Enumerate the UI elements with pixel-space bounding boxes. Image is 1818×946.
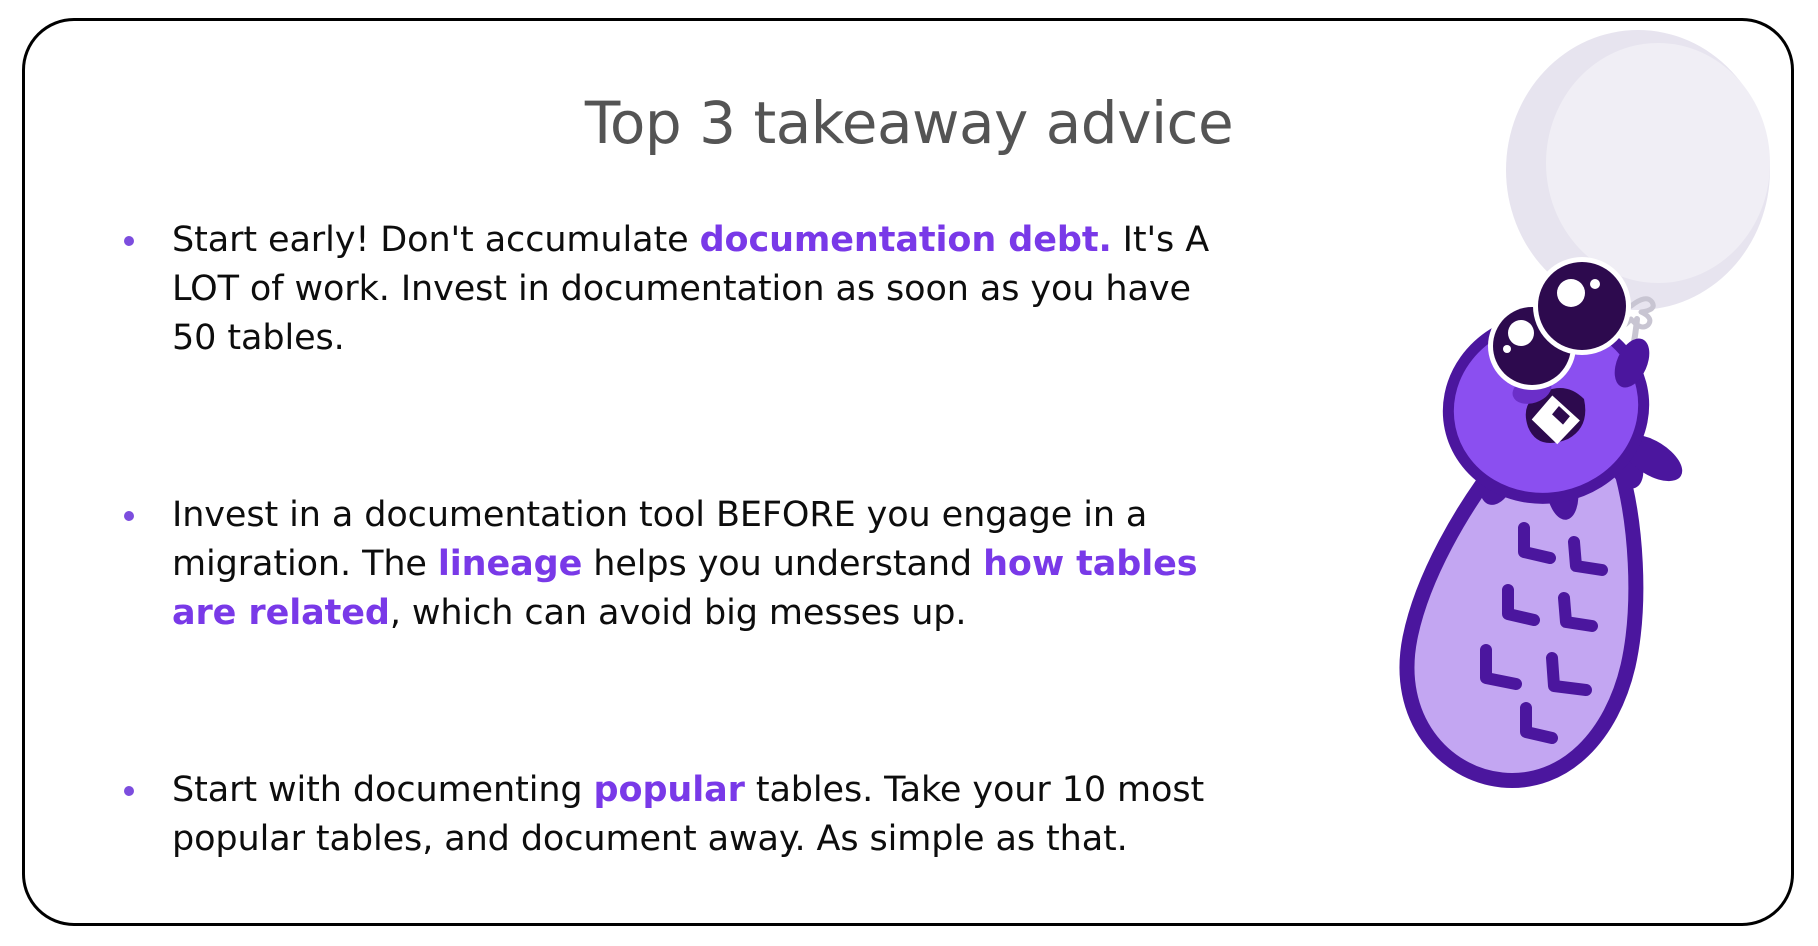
bullet-dot-icon	[124, 786, 134, 796]
page-title: Top 3 takeaway advice	[0, 89, 1818, 157]
takeaway-list: Start early! Don't accumulate documentat…	[110, 216, 1220, 864]
bullet-dot-icon	[124, 236, 134, 246]
bullet-text-2-highlight-1: lineage	[438, 544, 582, 584]
bullet-text-3-highlight: popular	[594, 770, 745, 810]
bullet-text-2-part-3: , which can avoid big messes up.	[390, 593, 967, 633]
list-item: Invest in a documentation tool BEFORE yo…	[110, 491, 1220, 638]
list-item: Start early! Don't accumulate documentat…	[110, 216, 1220, 363]
bullet-text-1-highlight: documentation debt.	[700, 220, 1112, 260]
list-item: Start with documenting popular tables. T…	[110, 766, 1220, 864]
slide-canvas: Top 3 takeaway advice Start early! Don't…	[0, 0, 1818, 946]
bullet-text-3-part-1: Start with documenting	[172, 770, 594, 810]
bullet-text-1-part-1: Start early! Don't accumulate	[172, 220, 700, 260]
bullet-dot-icon	[124, 511, 134, 521]
bullet-text-2-part-2: helps you understand	[582, 544, 983, 584]
